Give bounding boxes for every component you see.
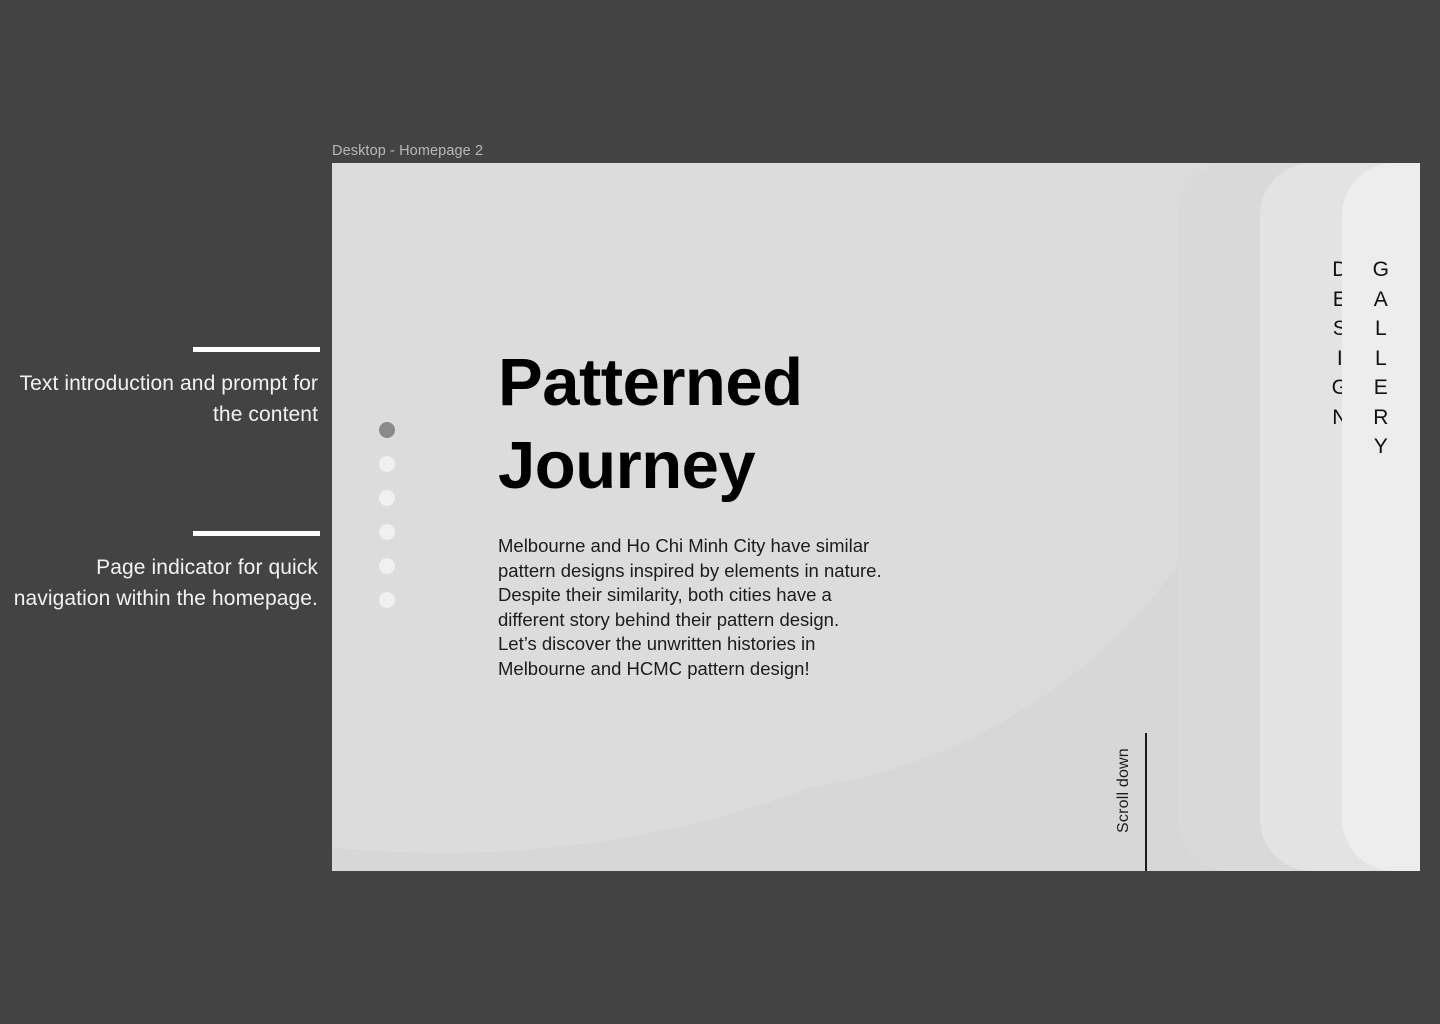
hero-description-line: Let’s discover the unwritten histories i…: [498, 632, 1018, 657]
page-title-line: Patterned: [498, 341, 1018, 424]
page-title: Patterned Journey: [498, 341, 1018, 507]
scroll-down-label: Scroll down: [1115, 733, 1133, 833]
annotation-column: Text introduction and prompt for the con…: [0, 0, 320, 1024]
nav-letter: L: [1342, 344, 1420, 374]
page-indicator-dot[interactable]: [379, 558, 395, 574]
nav-letter: A: [1342, 285, 1420, 315]
nav-letter: R: [1342, 403, 1420, 433]
hero-description-line: Despite their similarity, both cities ha…: [498, 583, 1018, 608]
nav-letter: E: [1342, 373, 1420, 403]
annotation-text-introduction: Text introduction and prompt for the con…: [0, 347, 320, 430]
page-indicator-dot[interactable]: [379, 490, 395, 506]
nav-panel-gallery[interactable]: G A L L E R Y: [1342, 163, 1420, 871]
hero-description-line: different story behind their pattern des…: [498, 608, 1018, 633]
annotation-divider-rule: [193, 347, 320, 352]
hero-description-line: Melbourne and HCMC pattern design!: [498, 657, 1018, 682]
hero-description-line: pattern designs inspired by elements in …: [498, 559, 1018, 584]
page-title-line: Journey: [498, 424, 1018, 507]
hero-section: Patterned Journey Melbourne and Ho Chi M…: [498, 341, 1018, 682]
homepage-frame: D I S C O V E R D E S I G N G A L L E R …: [332, 163, 1420, 871]
annotation-label: Page indicator for quick navigation with…: [0, 552, 320, 614]
page-indicator-dot[interactable]: [379, 592, 395, 608]
frame-title: Desktop - Homepage 2: [332, 143, 483, 159]
nav-label-gallery: G A L L E R Y: [1342, 255, 1420, 462]
page-indicator[interactable]: [379, 422, 395, 608]
page-indicator-dot[interactable]: [379, 456, 395, 472]
scroll-down-indicator[interactable]: Scroll down: [1115, 733, 1147, 871]
hero-description: Melbourne and Ho Chi Minh City have simi…: [498, 534, 1018, 682]
annotation-divider-rule: [193, 531, 320, 536]
page-indicator-dot[interactable]: [379, 524, 395, 540]
page-indicator-dot[interactable]: [379, 422, 395, 438]
nav-letter: L: [1342, 314, 1420, 344]
annotation-page-indicator: Page indicator for quick navigation with…: [0, 531, 320, 614]
annotation-label: Text introduction and prompt for the con…: [0, 368, 320, 430]
hero-description-line: Melbourne and Ho Chi Minh City have simi…: [498, 534, 1018, 559]
nav-letter: G: [1342, 255, 1420, 285]
nav-letter: Y: [1342, 432, 1420, 462]
scroll-down-line-icon: [1145, 733, 1147, 871]
